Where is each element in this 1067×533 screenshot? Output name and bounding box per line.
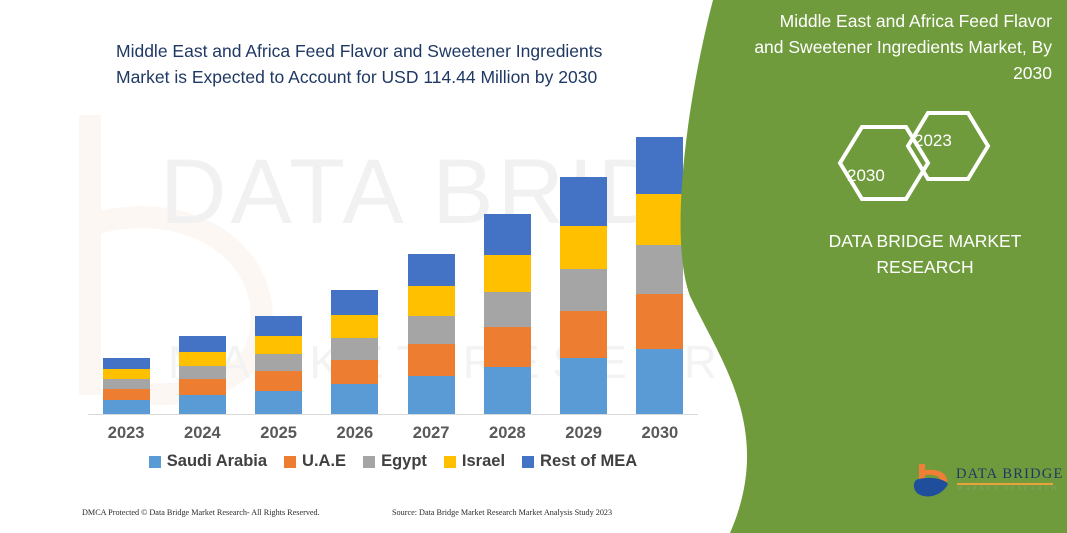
bar-segment (484, 214, 531, 255)
x-axis-label: 2029 (560, 424, 607, 443)
bar-segment (560, 311, 607, 358)
hexagon-group: 2030 2023 (818, 108, 998, 218)
legend-swatch-icon (149, 456, 161, 468)
bar-segment (636, 137, 683, 194)
bar-segment (255, 336, 302, 354)
bar-column (636, 137, 683, 414)
bar-segment (179, 379, 226, 395)
bar-segment (408, 316, 455, 344)
bar-segment (255, 316, 302, 336)
bar-segment (560, 358, 607, 414)
bar-segment (331, 290, 378, 315)
brand-line-1: DATA BRIDGE MARKET (790, 228, 1060, 254)
bar-column (103, 358, 150, 414)
bar-column (255, 316, 302, 414)
bar-segment (484, 292, 531, 327)
bar-segment (484, 255, 531, 292)
bar-segment (408, 286, 455, 315)
bar-segment (103, 379, 150, 389)
bar-segment (636, 349, 683, 415)
legend-swatch-icon (522, 456, 534, 468)
bar-segment (103, 369, 150, 379)
data-bridge-logo: DATA BRIDGE MARKET RESEARCH (912, 458, 1057, 504)
bar-segment (408, 254, 455, 286)
legend-item[interactable]: Egypt (363, 452, 427, 471)
legend-swatch-icon (444, 456, 456, 468)
bar-column (560, 177, 607, 414)
chart-baseline (88, 414, 698, 415)
bar-segment (636, 194, 683, 245)
footer-source: Source: Data Bridge Market Research Mark… (392, 508, 692, 517)
legend-label: U.A.E (302, 452, 346, 471)
brand-name: DATA BRIDGE MARKET RESEARCH (790, 228, 1060, 280)
chart-legend: Saudi ArabiaU.A.EEgyptIsraelRest of MEA (88, 452, 698, 471)
bar-segment (255, 354, 302, 371)
legend-item[interactable]: Rest of MEA (522, 452, 637, 471)
bar-segment (103, 358, 150, 369)
bar-segment (331, 338, 378, 360)
bar-column (179, 336, 226, 414)
x-axis-label: 2026 (331, 424, 378, 443)
page-title: Middle East and Africa Feed Flavor and S… (116, 38, 656, 90)
bar-column (408, 254, 455, 414)
x-axis-label: 2028 (484, 424, 531, 443)
logo-tagline: MARKET RESEARCH (957, 485, 1059, 492)
bar-segment (179, 395, 226, 414)
chart-bars (88, 122, 698, 414)
bar-segment (636, 294, 683, 349)
bar-segment (408, 376, 455, 414)
bar-segment (255, 371, 302, 391)
legend-swatch-icon (363, 456, 375, 468)
footer-copyright: DMCA Protected © Data Bridge Market Rese… (82, 508, 392, 517)
logo-wordmark: DATA BRIDGE (956, 466, 1064, 483)
brand-line-2: RESEARCH (790, 254, 1060, 280)
hex-label-2030: 2030 (847, 166, 885, 186)
x-axis-label: 2027 (408, 424, 455, 443)
bar-segment (103, 400, 150, 414)
legend-label: Rest of MEA (540, 452, 637, 471)
bar-segment (636, 245, 683, 294)
bar-segment (179, 336, 226, 352)
x-axis-label: 2030 (636, 424, 683, 443)
chart-x-axis-labels: 20232024202520262027202820292030 (88, 424, 698, 443)
legend-item[interactable]: Israel (444, 452, 505, 471)
bar-segment (179, 352, 226, 366)
bar-segment (255, 391, 302, 414)
bar-segment (560, 269, 607, 311)
bar-segment (484, 367, 531, 415)
x-axis-label: 2023 (103, 424, 150, 443)
bar-segment (560, 177, 607, 226)
bar-segment (484, 327, 531, 367)
bar-segment (103, 389, 150, 400)
x-axis-label: 2025 (255, 424, 302, 443)
bar-segment (179, 366, 226, 380)
panel-title: Middle East and Africa Feed Flavor and S… (752, 8, 1052, 86)
bar-column (484, 214, 531, 414)
legend-swatch-icon (284, 456, 296, 468)
footer: DMCA Protected © Data Bridge Market Rese… (82, 508, 692, 517)
bar-column (331, 290, 378, 414)
data-bridge-mark-icon (912, 460, 952, 502)
bar-segment (408, 344, 455, 376)
legend-label: Israel (462, 452, 505, 471)
x-axis-label: 2024 (179, 424, 226, 443)
legend-label: Saudi Arabia (167, 452, 267, 471)
stacked-bar-chart (88, 120, 698, 415)
bar-segment (331, 384, 378, 414)
legend-item[interactable]: Saudi Arabia (149, 452, 267, 471)
bar-segment (331, 360, 378, 385)
infographic-canvas: DATA BRIDGE MARKET RESEARCH Middle East … (0, 0, 1067, 533)
legend-label: Egypt (381, 452, 427, 471)
bar-segment (331, 315, 378, 338)
hex-label-2023: 2023 (914, 131, 952, 151)
hexagon-outline-icon (818, 108, 998, 218)
legend-item[interactable]: U.A.E (284, 452, 346, 471)
bar-segment (560, 226, 607, 269)
